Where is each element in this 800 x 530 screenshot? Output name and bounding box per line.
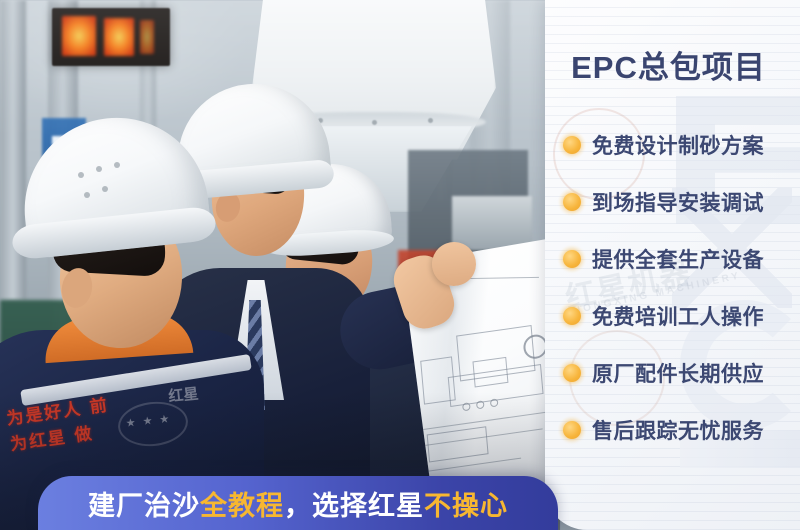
hard-hat-vent bbox=[102, 186, 108, 192]
list-item[interactable]: 到场指导安装调试 bbox=[559, 183, 794, 221]
dot-bullet-icon bbox=[563, 193, 581, 211]
dot-bullet-icon bbox=[563, 250, 581, 268]
hard-hat-vent bbox=[84, 192, 90, 198]
feature-label: 售后跟踪无忧服务 bbox=[592, 415, 764, 445]
features-panel: 红星机器 HONGXING MACHINERY EPC总包项目 免费设计制砂方案… bbox=[545, 0, 800, 530]
bottom-tagline-banner[interactable]: 建厂治沙全教程，选择红星不操心 bbox=[38, 476, 558, 530]
dot-bullet-icon bbox=[563, 136, 581, 154]
machinery-box bbox=[452, 196, 532, 250]
led-glyph bbox=[62, 16, 96, 56]
promo-banner-image: 为是好人 前为红星 做 红星 bbox=[0, 0, 800, 530]
feature-label: 免费培训工人操作 bbox=[592, 301, 764, 331]
blueprint-shape bbox=[420, 356, 456, 404]
banner-highlight-one: 全教程 bbox=[200, 491, 284, 521]
list-item[interactable]: 售后跟踪无忧服务 bbox=[559, 411, 794, 449]
list-item[interactable]: 免费设计制砂方案 bbox=[559, 126, 794, 164]
led-glyph bbox=[140, 20, 154, 54]
machine-bolt bbox=[372, 120, 377, 125]
feature-label: 到场指导安装调试 bbox=[592, 187, 764, 217]
hard-hat-vent bbox=[96, 166, 102, 172]
feature-label: 原厂配件长期供应 bbox=[592, 358, 764, 388]
uniform-calligraphy-text: 为是好人 前为红星 做 bbox=[5, 390, 135, 486]
dot-bullet-icon bbox=[563, 307, 581, 325]
feature-label: 提供全套生产设备 bbox=[592, 244, 764, 274]
dot-bullet-icon bbox=[563, 421, 581, 439]
feature-label: 免费设计制砂方案 bbox=[592, 130, 764, 160]
page-title: EPC总包项目 bbox=[545, 42, 792, 87]
banner-part-one: 建厂治沙 bbox=[88, 491, 200, 521]
list-item[interactable]: 免费培训工人操作 bbox=[559, 297, 794, 335]
machine-bolt bbox=[428, 118, 433, 123]
hard-hat-vent bbox=[114, 162, 120, 168]
feature-list: 免费设计制砂方案 到场指导安装调试 提供全套生产设备 免费培训工人操作 原厂配件… bbox=[559, 126, 794, 468]
uniform-chest-logo: 红星 bbox=[168, 383, 238, 436]
banner-text: 建厂治沙全教程，选择红星不操心 bbox=[88, 484, 508, 523]
list-item[interactable]: 提供全套生产设备 bbox=[559, 240, 794, 278]
led-glyph bbox=[104, 18, 134, 56]
hard-hat-vent bbox=[78, 172, 84, 178]
banner-highlight-two: 不操心 bbox=[424, 491, 508, 521]
banner-part-two: ，选择红星 bbox=[284, 491, 424, 521]
dot-bullet-icon bbox=[563, 364, 581, 382]
list-item[interactable]: 原厂配件长期供应 bbox=[559, 354, 794, 392]
